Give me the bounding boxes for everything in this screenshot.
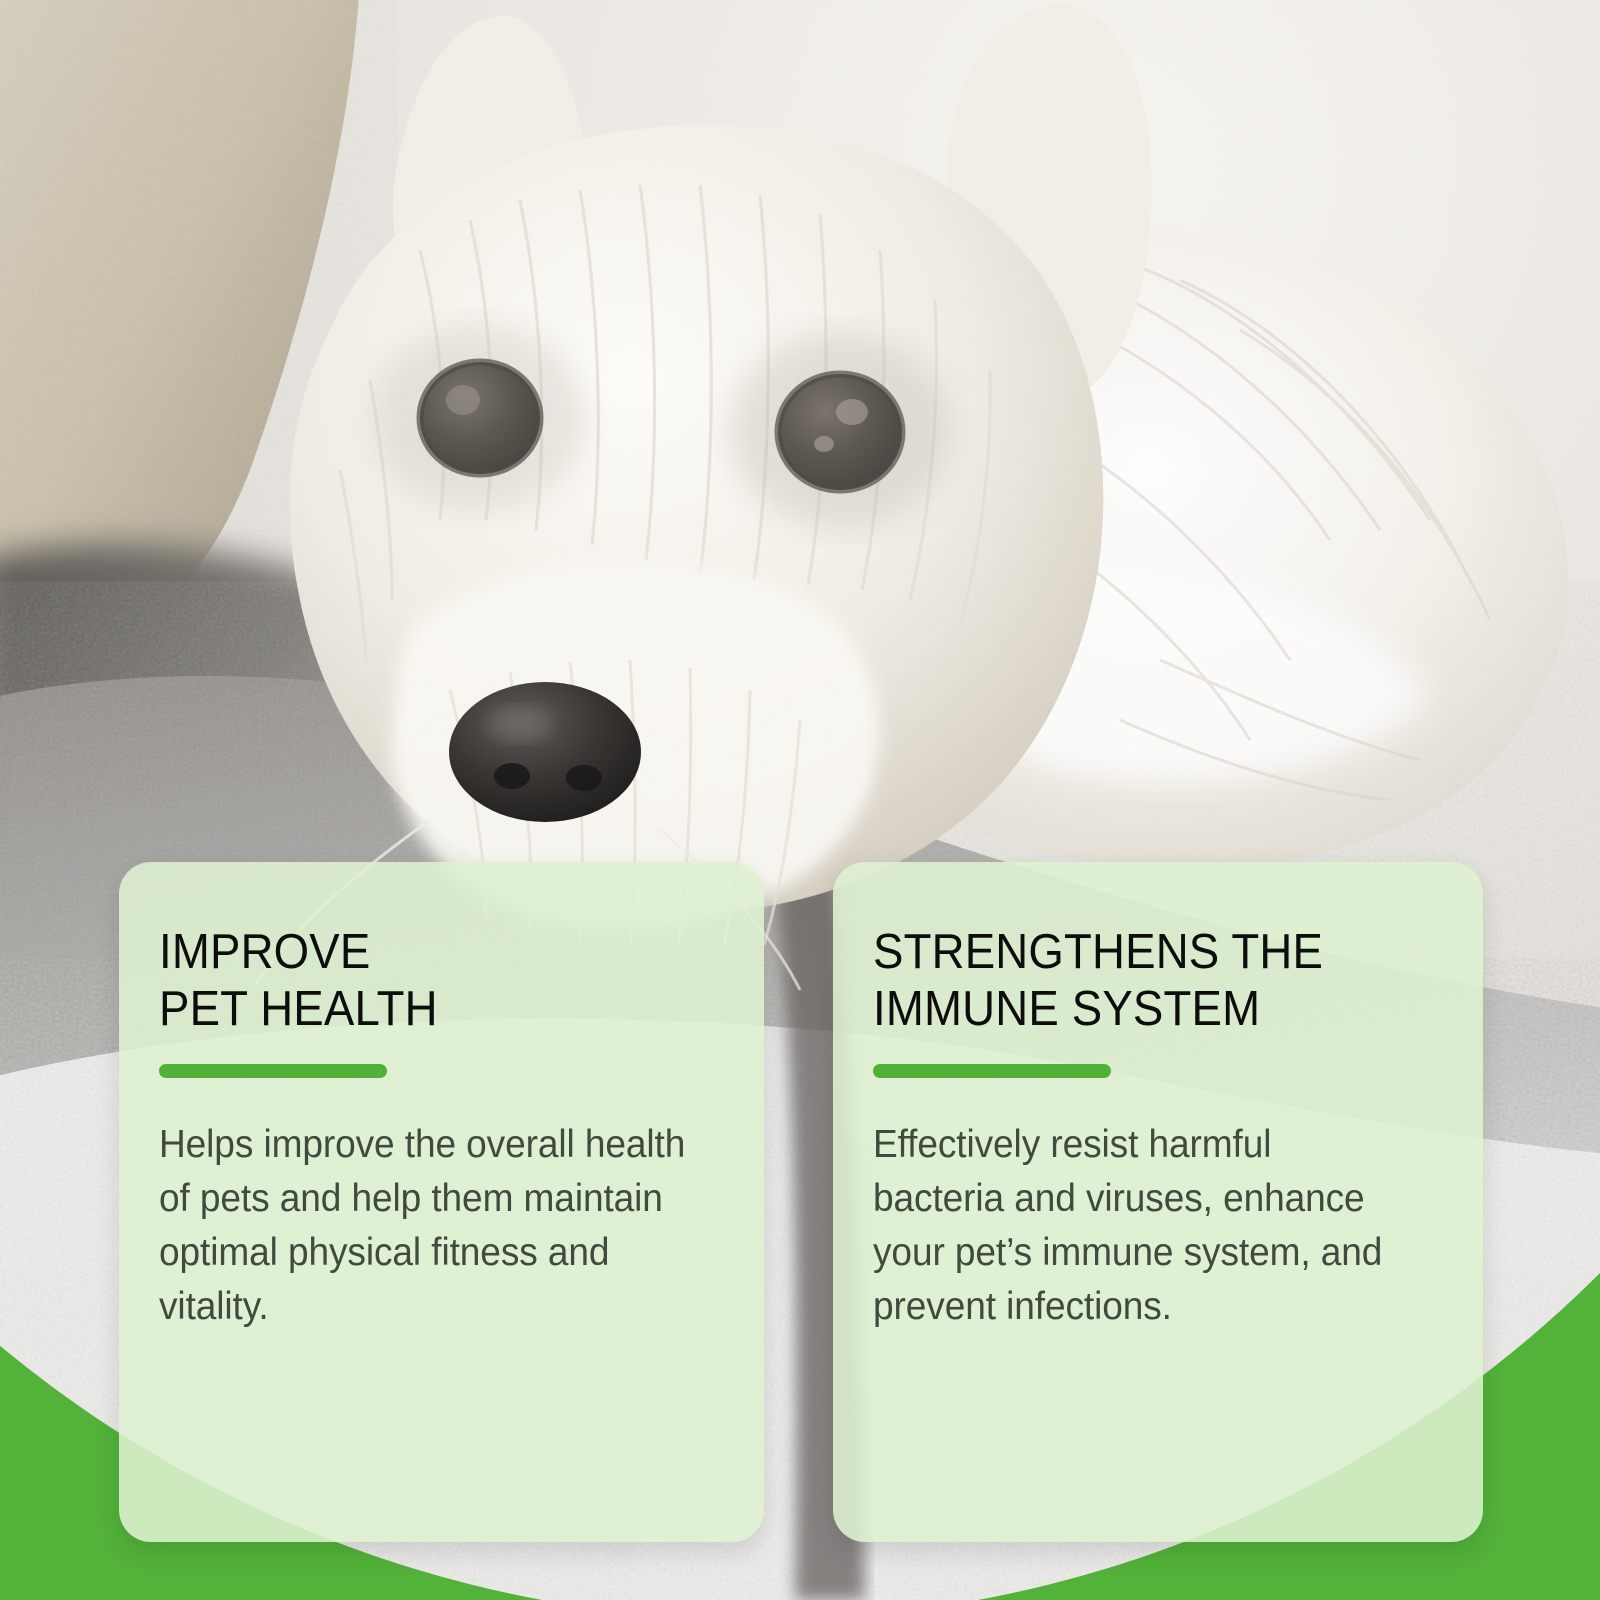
accent-bar bbox=[159, 1064, 387, 1078]
feature-card-body: Helps improve the overall health of pets… bbox=[159, 1118, 692, 1334]
feature-card-title: IMPROVE PET HEALTH bbox=[159, 924, 681, 1038]
poster-root: IMPROVE PET HEALTH Helps improve the ove… bbox=[0, 0, 1600, 1600]
accent-bar bbox=[873, 1064, 1111, 1078]
feature-card-body: Effectively resist harmful bacteria and … bbox=[873, 1118, 1411, 1334]
feature-card-improve-pet-health: IMPROVE PET HEALTH Helps improve the ove… bbox=[119, 862, 764, 1542]
feature-card-strengthens-immune-system: STRENGTHENS THE IMMUNE SYSTEM Effectivel… bbox=[833, 862, 1483, 1542]
feature-card-title: STRENGTHENS THE IMMUNE SYSTEM bbox=[873, 924, 1399, 1038]
